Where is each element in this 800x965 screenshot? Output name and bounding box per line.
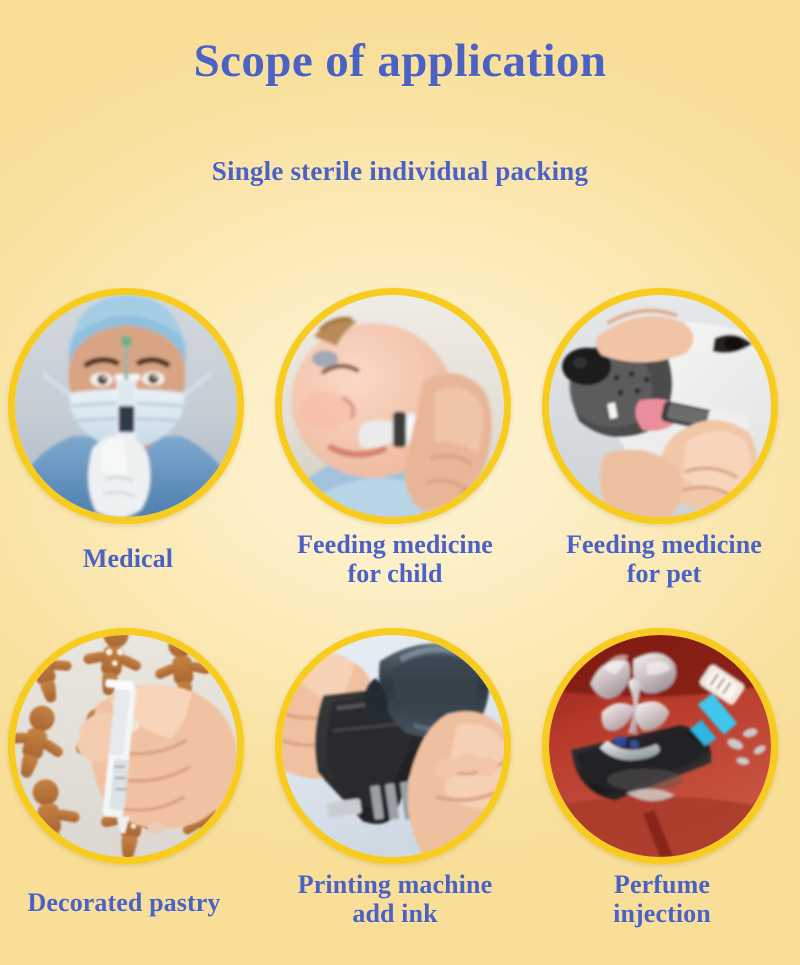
caption-line-1: Feeding medicine <box>566 530 762 559</box>
page-title: Scope of application <box>0 36 800 87</box>
application-card-perfume: Perfume injection <box>542 628 782 928</box>
page-root: Scope of application Single sterile indi… <box>0 0 800 965</box>
caption-line-2: for child <box>275 559 515 588</box>
caption-line-1: Perfume <box>614 870 710 899</box>
application-card-medical: Medical <box>8 288 248 573</box>
pastry-photo <box>15 635 237 857</box>
caption-perfume: Perfume injection <box>542 870 782 928</box>
caption-line-1: Feeding medicine <box>297 530 493 559</box>
caption-line-1: Decorated pastry <box>28 888 221 917</box>
caption-printer: Printing machine add ink <box>275 870 515 928</box>
circle-frame <box>275 628 511 864</box>
application-card-child: Feeding medicine for child <box>275 288 515 588</box>
caption-medical: Medical <box>8 544 248 573</box>
caption-line-1: Medical <box>83 544 173 573</box>
perfume-photo <box>549 635 771 857</box>
circle-frame <box>542 288 778 524</box>
caption-line-2: add ink <box>275 899 515 928</box>
child-feeding-photo <box>282 295 504 517</box>
circle-frame <box>8 288 244 524</box>
caption-line-2: for pet <box>546 559 782 588</box>
application-card-pastry: Decorated pastry <box>8 628 248 917</box>
circle-frame <box>8 628 244 864</box>
caption-pastry: Decorated pastry <box>0 888 248 917</box>
application-card-printer: Printing machine add ink <box>275 628 515 928</box>
page-subtitle: Single sterile individual packing <box>0 156 800 187</box>
pet-feeding-photo <box>549 295 771 517</box>
circle-frame <box>275 288 511 524</box>
circle-frame <box>542 628 778 864</box>
caption-line-1: Printing machine <box>298 870 492 899</box>
caption-pet: Feeding medicine for pet <box>546 530 782 588</box>
application-card-pet: Feeding medicine for pet <box>542 288 782 588</box>
caption-child: Feeding medicine for child <box>275 530 515 588</box>
caption-line-2: injection <box>542 899 782 928</box>
medical-photo <box>15 295 237 517</box>
printer-ink-photo <box>282 635 504 857</box>
